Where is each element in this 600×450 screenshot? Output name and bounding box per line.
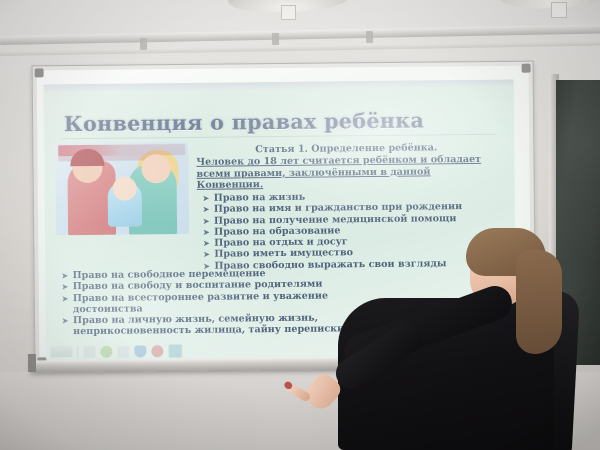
article-paragraph: Статья 1. Определение ребёнка. Человек д… xyxy=(196,142,496,192)
document-icon[interactable] xyxy=(117,345,129,357)
classroom-scene: Конвенция о правах ребёнка Статья 1. Опр… xyxy=(0,0,600,450)
conduit-clip xyxy=(366,31,373,43)
tray-end-cap xyxy=(28,354,36,372)
slide-title: Конвенция о правах ребёнка xyxy=(64,108,494,137)
baby-head xyxy=(113,176,137,200)
teal-app-icon[interactable] xyxy=(168,344,182,358)
whiteboard-corner-bracket xyxy=(35,68,44,77)
minimize-icon[interactable] xyxy=(83,345,95,357)
whiteboard-corner-bracket xyxy=(522,64,531,73)
green-app-icon[interactable] xyxy=(100,345,112,357)
start-button[interactable] xyxy=(50,346,72,357)
conduit-clip xyxy=(140,38,147,50)
windows-taskbar[interactable] xyxy=(50,342,300,360)
blue-app-icon[interactable] xyxy=(134,345,146,357)
mother-head xyxy=(141,154,170,183)
presenter xyxy=(330,232,600,450)
conduit-clip xyxy=(272,33,279,45)
family-illustration xyxy=(55,142,189,235)
taskbar-divider xyxy=(77,346,78,358)
red-app-icon[interactable] xyxy=(151,345,163,357)
ceiling-lamp-mount xyxy=(551,2,567,18)
article-body: Человек до 18 лет считается ребёнком и о… xyxy=(196,154,496,191)
ceiling-lamp-mount xyxy=(281,5,296,20)
hair-front xyxy=(516,250,562,354)
